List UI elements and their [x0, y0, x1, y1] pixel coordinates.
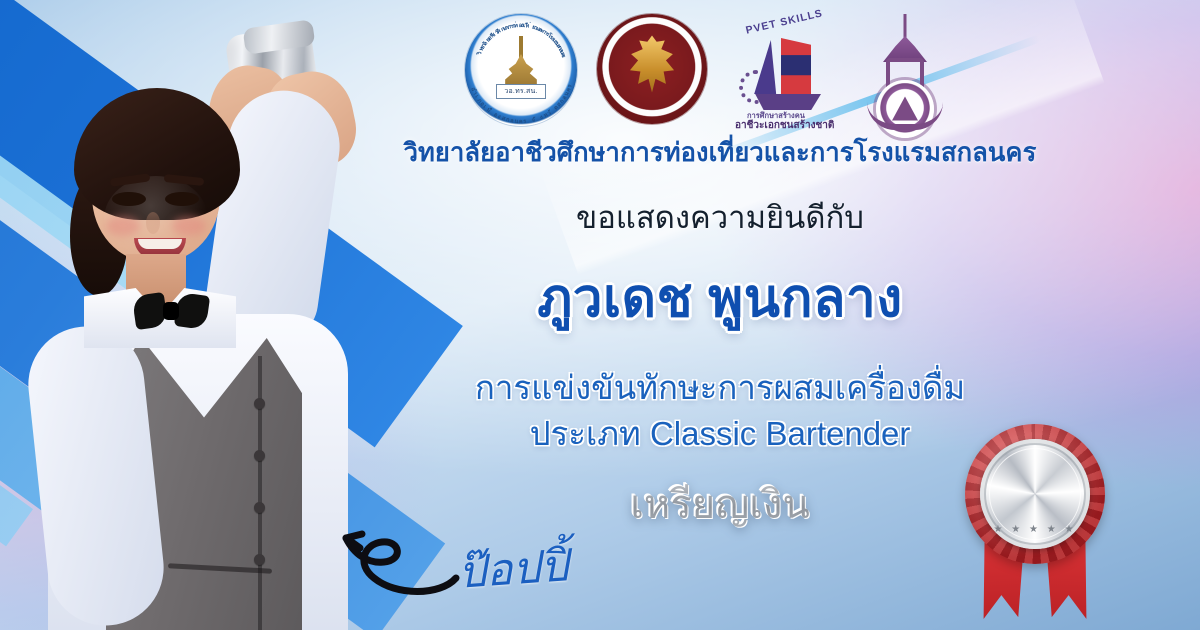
silver-medal-rosette: ★ ★ ★ ★ ★ — [955, 418, 1115, 618]
vest-button — [254, 502, 265, 513]
vest-button — [254, 398, 265, 409]
signature-dots: .. — [438, 574, 450, 591]
nickname-signature: ป๊อปปิ้ — [456, 530, 571, 608]
right-eye — [165, 192, 199, 206]
awardee-name: ภูวเดช พูนกลาง — [380, 256, 1060, 340]
college-name: วิทยาลัยอาชีวศึกษาการท่องเที่ยวและการโรง… — [380, 133, 1060, 173]
medal-stars: ★ ★ ★ ★ ★ — [980, 524, 1090, 535]
right-blush — [172, 216, 206, 236]
signature-group: .. ป๊อปปิ้ — [330, 512, 610, 612]
competition-line-1: การแข่งขันทักษะการผสมเครื่องดื่ม — [380, 366, 1060, 410]
left-eye — [112, 192, 146, 206]
left-blush — [106, 216, 140, 236]
nose — [146, 212, 160, 234]
bow-tie — [134, 294, 208, 328]
silver-medal-disc: ★ ★ ★ ★ ★ — [980, 439, 1090, 549]
vest-button — [254, 450, 265, 461]
congratulation-greeting: ขอแสดงความยินดีกับ — [380, 192, 1060, 242]
congratulations-poster: CONGRAT RATULATIONS วิทย — [0, 0, 1200, 630]
vest-button — [254, 554, 265, 565]
